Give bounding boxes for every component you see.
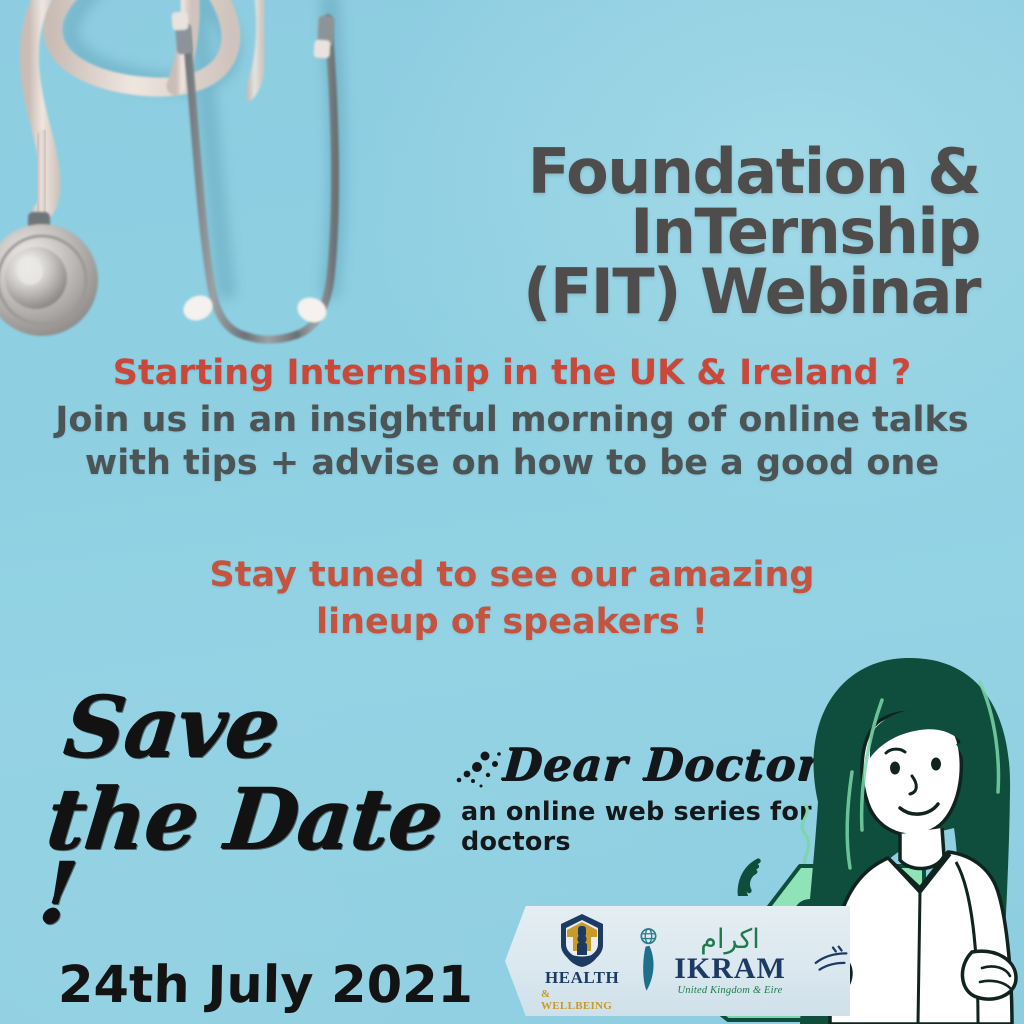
stethoscope-photo	[0, 0, 400, 370]
lede-question: Starting Internship in the UK & Ireland …	[0, 352, 1024, 395]
lede-body-line-2: with tips + advise on how to be a good o…	[0, 442, 1024, 485]
stay-tuned-block: Stay tuned to see our amazing lineup of …	[0, 552, 1024, 645]
save-the-date-script: Save the Date !	[43, 690, 488, 930]
ikram-arabic: اكرام	[700, 926, 759, 953]
save-the-date-block: Save the Date ! 24th July 2021	[56, 690, 476, 1015]
hexagon-house-person-badge-icon	[553, 911, 611, 967]
health-wellbeing-line-1: HEALTH	[545, 968, 619, 988]
logo-health-wellbeing: HEALTH & WELLBEING	[541, 911, 623, 1012]
ikram-region: United Kingdom & Eire	[678, 985, 783, 996]
stay-tuned-line-1: Stay tuned to see our amazing	[0, 552, 1024, 599]
lede-block: Starting Internship in the UK & Ireland …	[0, 352, 1024, 485]
title-line-2: InTernship	[460, 202, 980, 262]
health-wellbeing-line-2: & WELLBEING	[541, 988, 623, 1012]
sponsor-logo-band: HEALTH & WELLBEING اكرام IKRAM United Ki…	[505, 906, 850, 1016]
event-date: 24th July 2021	[57, 956, 476, 1015]
title-line-3: (FIT) Webinar	[460, 262, 980, 322]
title-line-1: Foundation &	[460, 142, 980, 202]
save-script-line-2: the Date !	[35, 782, 479, 930]
lede-body-line-1: Join us in an insightful morning of onli…	[0, 399, 1024, 442]
arabic-calligraphy-mark-icon	[810, 943, 850, 979]
poster-title: Foundation & InTernship (FIT) Webinar	[460, 142, 980, 322]
save-script-line-1: Save	[61, 690, 489, 764]
ikram-name: IKRAM	[674, 953, 786, 985]
stay-tuned-line-2: lineup of speakers !	[0, 599, 1024, 646]
logo-ikram: اكرام IKRAM United Kingdom & Eire	[674, 926, 786, 996]
globe-alif-icon	[637, 926, 660, 996]
poster-canvas: Foundation & InTernship (FIT) Webinar St…	[0, 0, 1024, 1024]
